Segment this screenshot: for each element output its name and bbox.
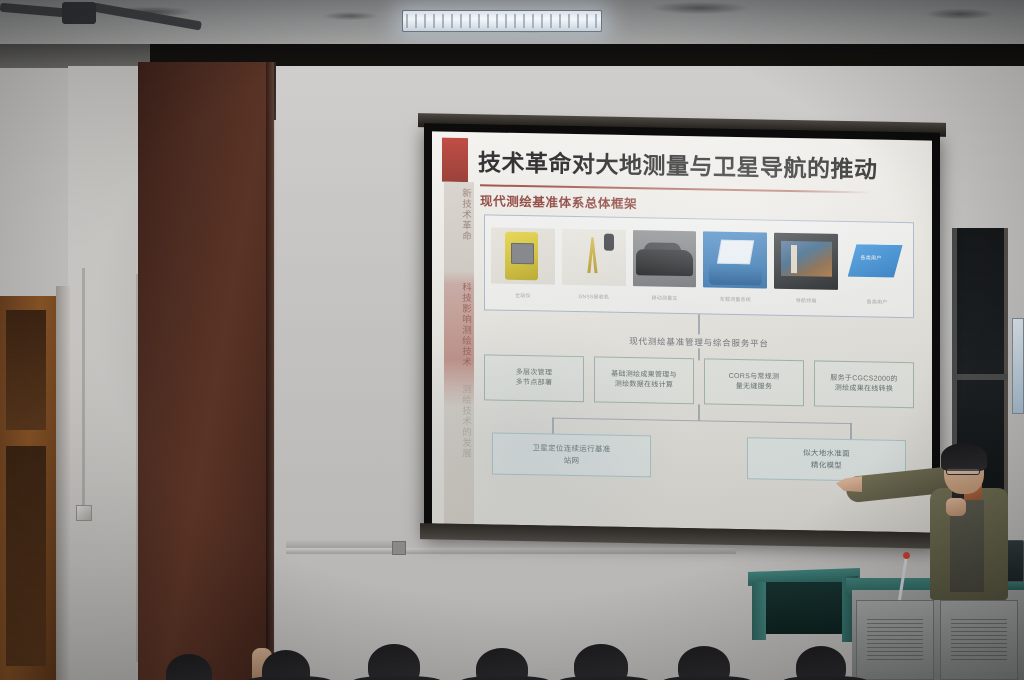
microphone-tip — [903, 552, 910, 559]
caption-gnss-tripod: GNSS接收机 — [562, 293, 626, 308]
dark-wall-pillar — [138, 62, 274, 680]
wall-poster — [1012, 318, 1024, 414]
projected-slide: 新技术革命 科技影响测绘技术 测绘技术的发展 技术革命对大地测量与卫星导航的推动… — [432, 131, 932, 532]
caption-user-group: 各类用户 — [845, 298, 909, 313]
audience-head-4 — [574, 644, 628, 680]
audience-shoulder-4 — [558, 676, 650, 680]
glasses-icon — [946, 468, 980, 475]
side-shelf-left-panel — [752, 582, 766, 640]
door-panel-lower — [6, 446, 46, 666]
picture-total-station — [491, 227, 555, 284]
side-band-text-top: 新技术革命 — [446, 188, 472, 242]
slide-title: 技术革命对大地测量与卫星导航的推动 — [478, 138, 922, 190]
slide-subtitle: 现代测绘基准体系总体框架 — [480, 190, 637, 212]
podium-door-left[interactable] — [856, 600, 934, 680]
audience-shoulder-3 — [460, 676, 550, 680]
podium-door-right[interactable] — [940, 600, 1018, 680]
foundation-box-cors-network: 卫星定位连续运行基准 站网 — [492, 433, 651, 478]
caption-total-station: 全站仪 — [491, 291, 555, 306]
service-box-3: CORS与常规测 量无缝服务 — [704, 358, 804, 406]
service-box-1: 多层次管理 多节点部署 — [484, 354, 584, 402]
user-tag-label: 各类用户 — [860, 254, 881, 261]
door-frame — [56, 286, 70, 680]
service-box-4: 服务于CGCS2000的 测绘成果在线转换 — [814, 360, 914, 408]
presenter-hair — [941, 443, 987, 471]
ceiling-fan-hub — [62, 2, 96, 24]
pillar-edge-highlight — [266, 62, 276, 680]
podium-vent-left — [867, 619, 923, 661]
fluorescent-light-fixture — [402, 10, 602, 32]
connector-services-to-foundation — [698, 404, 700, 420]
audience-head-6 — [796, 646, 846, 680]
lecture-hall-photo: 新技术革命 科技影响测绘技术 测绘技术的发展 技术革命对大地测量与卫星导航的推动… — [0, 0, 1024, 680]
slide-picture-row: 各类用户 — [491, 221, 909, 297]
left-wall-section — [68, 66, 142, 680]
connector-foundation-bus — [552, 418, 852, 424]
wall-conduit-vertical — [82, 268, 85, 508]
slide-red-tab — [442, 138, 468, 182]
side-band-text-bottom: 测绘技术的发展 — [446, 384, 472, 459]
whiteboard-clip — [392, 541, 406, 555]
door-panel-upper — [6, 310, 46, 430]
presenter-mic-hand — [946, 498, 966, 516]
picture-gnss-tripod — [562, 229, 626, 286]
side-shelf-cavity — [766, 582, 842, 634]
wall-switch-box[interactable] — [76, 505, 92, 521]
audience-shoulder-2 — [352, 676, 442, 680]
foundation-box-row: 卫星定位连续运行基准 站网 似大地水准面 精化模型 — [492, 433, 906, 483]
connector-panel-to-platform — [698, 314, 700, 334]
audience-shoulder-6 — [782, 676, 868, 680]
picture-mobile-mapping-van — [703, 231, 767, 288]
connector-foundation-left — [552, 418, 554, 434]
audience-head-5 — [678, 646, 730, 680]
audience-shoulder-5 — [662, 676, 752, 680]
wooden-door[interactable] — [0, 296, 58, 680]
caption-navigation-device: 导航终端 — [774, 297, 838, 312]
audience-head-2 — [368, 644, 420, 680]
side-band-text-middle: 科技影响测绘技术 — [446, 282, 472, 368]
whiteboard-rail — [286, 548, 736, 554]
podium-vent-right — [951, 619, 1007, 661]
picture-survey-vehicle — [633, 230, 697, 287]
connector-foundation-right — [850, 423, 852, 439]
service-box-2: 基础测绘成果管理与 测绘数据在线计算 — [594, 356, 694, 404]
slide-picture-panel: 各类用户 全站仪 GNSS接收机 移动测量车 车载测量系统 导航终端 各类用户 — [484, 214, 914, 318]
caption-mobile-mapping-van: 车载测量系统 — [703, 295, 767, 310]
audience-shoulder-1 — [246, 676, 332, 680]
picture-user-group: 各类用户 — [845, 234, 909, 291]
caption-survey-vehicle: 移动测量车 — [633, 294, 697, 309]
picture-navigation-device — [774, 233, 838, 290]
service-box-row: 多层次管理 多节点部署 基础测绘成果管理与 测绘数据在线计算 CORS与常规测 … — [484, 354, 914, 408]
ceiling-edge-left — [0, 44, 152, 68]
window-mullion — [952, 374, 1008, 380]
